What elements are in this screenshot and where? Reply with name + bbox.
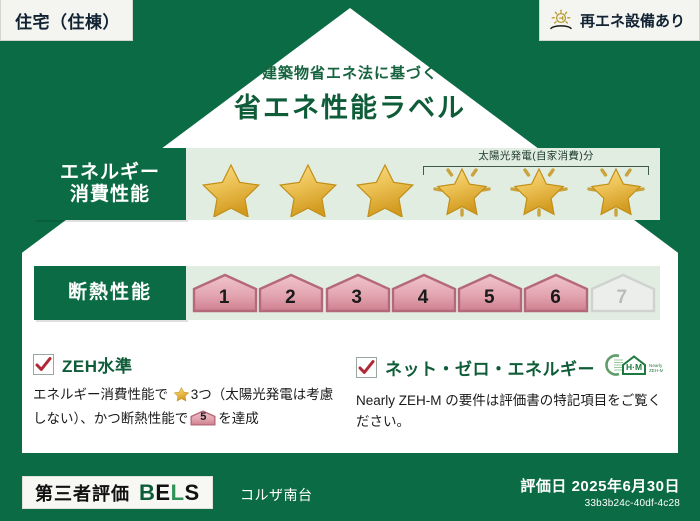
insulation-badge-value: 6 bbox=[550, 288, 561, 314]
insulation-badge-value: 2 bbox=[285, 288, 296, 314]
bels-certification-box: 第三者評価 BELS bbox=[22, 476, 213, 509]
insulation-badge-value: 5 bbox=[484, 288, 495, 314]
svg-text:ZEH-M: ZEH-M bbox=[649, 368, 663, 373]
insulation-performance-row: 断熱性能 1 2 bbox=[34, 266, 660, 320]
evaluation-id: 33b3b24c-40df-4c28 bbox=[520, 498, 680, 509]
energy-performance-row: エネルギー 消費性能 太陽光発電(自家消費)分 bbox=[34, 148, 660, 220]
net-zero-energy-body: Nearly ZEH-M の要件は評価書の特記項目をご覧ください。 bbox=[356, 390, 668, 433]
energy-performance-label: 住宅（住棟） 再エネ設備あり 建築物省エネ法に基づく 省エネ性能ラベル エネルギ… bbox=[0, 0, 700, 521]
bels-letter-e: E bbox=[155, 480, 170, 505]
star-icon bbox=[352, 159, 418, 217]
footer: 第三者評価 BELS コルザ南台 評価日 2025年6月30日 33b3b24c… bbox=[0, 453, 700, 521]
project-name: コルザ南台 bbox=[240, 485, 313, 505]
third-party-label: 第三者評価 bbox=[35, 480, 130, 506]
star-1 bbox=[198, 159, 264, 217]
checkbox-checked[interactable] bbox=[356, 357, 377, 378]
solar-generation-bracket: 太陽光発電(自家消費)分 bbox=[420, 150, 652, 172]
insulation-grade-panel: 1 2 3 4 bbox=[186, 266, 660, 320]
zeh-standard-heading: ZEH水準 bbox=[33, 352, 343, 377]
evaluation-date: 評価日 2025年6月30日 bbox=[520, 475, 680, 496]
inline-badge-value: 5 bbox=[190, 409, 216, 426]
building-type-badge: 住宅（住棟） bbox=[0, 0, 133, 41]
page-title: 省エネ性能ラベル bbox=[0, 86, 700, 125]
evaluation-date-value: 2025年6月30日 bbox=[572, 478, 680, 495]
zeh-body-part3: を達成 bbox=[218, 411, 259, 426]
zeh-m-logo-icon: H·M Nearly ZEH-M bbox=[605, 352, 663, 378]
bels-letter-l: L bbox=[171, 480, 185, 505]
net-zero-energy-section: ネット・ゼロ・エネルギー H·M Nearly ZEH-M Nearly ZEH… bbox=[356, 352, 668, 433]
net-zero-energy-heading: ネット・ゼロ・エネルギー H·M Nearly ZEH-M bbox=[356, 352, 668, 383]
insulation-badge-1: 1 bbox=[191, 272, 257, 314]
zeh-m-logo: H·M Nearly ZEH-M bbox=[605, 352, 663, 383]
insulation-badge-value: 3 bbox=[351, 288, 362, 314]
star-icon bbox=[275, 159, 341, 217]
insulation-label: 断熱性能 bbox=[68, 282, 152, 304]
insulation-badge-2: 2 bbox=[257, 272, 323, 314]
title-block: 建築物省エネ法に基づく 省エネ性能ラベル bbox=[0, 62, 700, 125]
bracket-line bbox=[423, 166, 649, 175]
bels-letter-s: S bbox=[185, 480, 200, 505]
net-zero-energy-title: ネット・ゼロ・エネルギー bbox=[385, 355, 595, 380]
insulation-badge-value: 4 bbox=[418, 288, 429, 314]
bels-wordmark: BELS bbox=[139, 480, 200, 506]
zeh-standard-body: エネルギー消費性能で 3つ（太陽光発電は考慮しない）、かつ断熱性能で 5 を達成 bbox=[33, 384, 343, 430]
insulation-badge-value: 1 bbox=[219, 288, 230, 314]
evaluation-info: 評価日 2025年6月30日 33b3b24c-40df-4c28 bbox=[520, 475, 680, 509]
insulation-badge-5: 5 bbox=[456, 272, 522, 314]
checkbox-checked[interactable] bbox=[33, 354, 54, 375]
title-subtitle: 建築物省エネ法に基づく bbox=[0, 62, 700, 83]
building-type-label: 住宅（住棟） bbox=[15, 8, 120, 33]
insulation-badge-value: 7 bbox=[617, 288, 628, 314]
star-2 bbox=[275, 159, 341, 217]
svg-text:H·M: H·M bbox=[626, 362, 642, 372]
insulation-badge-6: 6 bbox=[522, 272, 588, 314]
star-icon bbox=[173, 385, 190, 402]
energy-label-line1: エネルギー bbox=[60, 162, 160, 184]
renewable-equipment-label: 再エネ設備あり bbox=[580, 10, 685, 31]
sun-icon bbox=[548, 8, 574, 32]
zeh-standard-title: ZEH水準 bbox=[62, 352, 133, 377]
insulation-badge-3: 3 bbox=[324, 272, 390, 314]
zeh-standard-section: ZEH水準 エネルギー消費性能で 3つ（太陽光発電は考慮しない）、かつ断熱性能で… bbox=[33, 352, 343, 430]
insulation-badge-7: 7 bbox=[589, 272, 655, 314]
insulation-badge-4: 4 bbox=[390, 272, 456, 314]
solar-bracket-label: 太陽光発電(自家消費)分 bbox=[420, 148, 652, 163]
star-icon bbox=[198, 159, 264, 217]
energy-performance-label-box: エネルギー 消費性能 bbox=[34, 148, 186, 220]
evaluation-date-label: 評価日 bbox=[520, 478, 567, 495]
bels-letter-b: B bbox=[139, 480, 155, 505]
energy-label-line2: 消費性能 bbox=[70, 184, 150, 206]
inline-insulation-badge: 5 bbox=[190, 409, 216, 427]
star-3 bbox=[352, 159, 418, 217]
check-icon bbox=[35, 356, 52, 373]
renewable-equipment-badge: 再エネ設備あり bbox=[539, 0, 700, 41]
inline-star-icon bbox=[173, 385, 190, 408]
insulation-label-box: 断熱性能 bbox=[34, 266, 186, 320]
energy-performance-stars-panel: 太陽光発電(自家消費)分 bbox=[186, 148, 660, 220]
check-icon bbox=[358, 359, 375, 376]
zeh-body-part1: エネルギー消費性能で bbox=[33, 387, 168, 402]
